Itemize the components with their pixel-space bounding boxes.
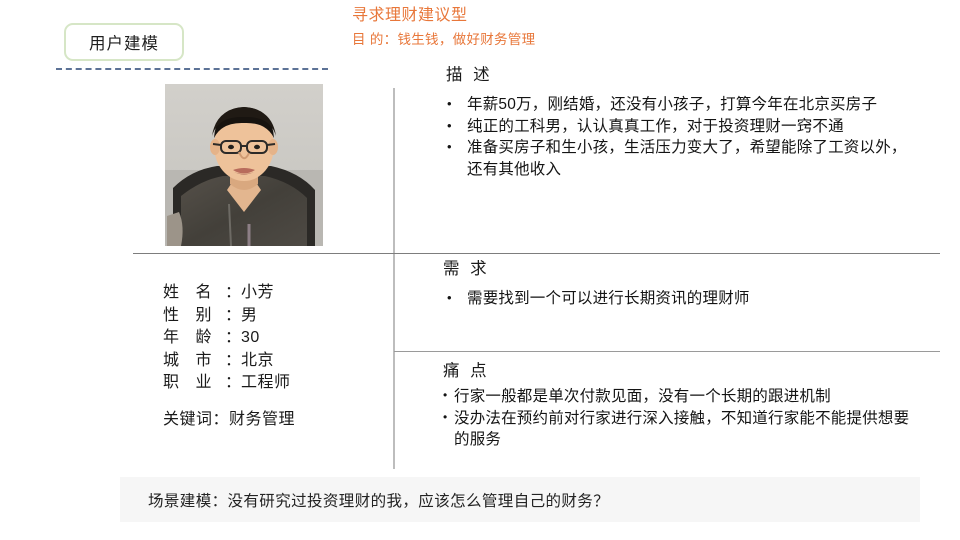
profile-key-name: 姓 名 <box>163 282 225 305</box>
profile-keyword-label: 关键词： <box>163 411 229 428</box>
dashed-divider <box>56 68 328 70</box>
scenario-banner: 场景建模：没有研究过投资理财的我，应该怎么管理自己的财务？ <box>120 477 920 522</box>
page-subtitle: 目 的：钱生钱，做好财务管理 <box>352 30 912 49</box>
list-item: 纯正的工科男，认认真真工作，对于投资理财一窍不通 <box>443 116 913 138</box>
profile-colon: ： <box>225 282 241 305</box>
profile-keyword-row: 关键词：财务管理 <box>163 409 388 431</box>
user-modeling-badge: 用户建模 <box>64 23 184 61</box>
list-item: 没办法在预约前对行家进行深入接触，不知道行家能不能提供想要的服务 <box>443 408 913 451</box>
profile-keyword-value: 财务管理 <box>229 411 295 428</box>
list-item: 需要找到一个可以进行长期资讯的理财师 <box>443 288 913 310</box>
headline-block: 寻求理财建议型 目 的：钱生钱，做好财务管理 <box>352 6 912 49</box>
list-item: 年薪50万，刚结婚，还没有小孩子，打算今年在北京买房子 <box>443 94 913 116</box>
profile-colon: ： <box>225 305 241 328</box>
list-item: 准备买房子和生小孩，生活压力变大了，希望能除了工资以外，还有其他收入 <box>443 137 913 180</box>
portrait-illustration <box>165 84 323 246</box>
profile-colon: ： <box>225 327 241 350</box>
user-portrait-photo <box>165 84 323 246</box>
profile-row: 城 市 ： 北京 <box>163 350 388 373</box>
scenario-banner-text: 场景建模：没有研究过投资理财的我，应该怎么管理自己的财务？ <box>148 489 609 511</box>
horizontal-divider-main <box>133 253 940 254</box>
profile-key-gender: 性 别 <box>163 305 225 328</box>
horizontal-divider-right <box>394 351 940 352</box>
profile-value-name: 小芳 <box>241 282 274 305</box>
description-title: 描 述 <box>446 64 913 86</box>
description-panel: 描 述 年薪50万，刚结婚，还没有小孩子，打算今年在北京买房子 纯正的工科男，认… <box>443 64 913 180</box>
profile-value-age: 30 <box>241 327 260 350</box>
need-panel: 需 求 需要找到一个可以进行长期资讯的理财师 <box>443 258 913 310</box>
profile-info: 姓 名 ： 小芳 性 别 ： 男 年 龄 ： 30 城 市 ： 北京 职 业 ：… <box>163 282 388 431</box>
vertical-divider <box>393 88 395 469</box>
profile-row: 年 龄 ： 30 <box>163 327 388 350</box>
profile-key-occupation: 职 业 <box>163 372 225 395</box>
need-list: 需要找到一个可以进行长期资讯的理财师 <box>443 288 913 310</box>
pain-panel: 痛 点 行家一般都是单次付款见面，没有一个长期的跟进机制 没办法在预约前对行家进… <box>443 360 913 451</box>
profile-value-occupation: 工程师 <box>241 372 291 395</box>
page-title: 寻求理财建议型 <box>352 6 912 26</box>
profile-colon: ： <box>225 372 241 395</box>
need-title: 需 求 <box>443 258 913 280</box>
badge-label: 用户建模 <box>89 30 159 54</box>
list-item: 行家一般都是单次付款见面，没有一个长期的跟进机制 <box>443 386 913 408</box>
profile-value-city: 北京 <box>241 350 274 373</box>
pain-title: 痛 点 <box>443 360 913 382</box>
profile-key-age: 年 龄 <box>163 327 225 350</box>
profile-row: 性 别 ： 男 <box>163 305 388 328</box>
profile-row: 姓 名 ： 小芳 <box>163 282 388 305</box>
profile-value-gender: 男 <box>241 305 258 328</box>
profile-colon: ： <box>225 350 241 373</box>
profile-row: 职 业 ： 工程师 <box>163 372 388 395</box>
profile-key-city: 城 市 <box>163 350 225 373</box>
pain-list: 行家一般都是单次付款见面，没有一个长期的跟进机制 没办法在预约前对行家进行深入接… <box>443 386 913 451</box>
description-list: 年薪50万，刚结婚，还没有小孩子，打算今年在北京买房子 纯正的工科男，认认真真工… <box>443 94 913 180</box>
